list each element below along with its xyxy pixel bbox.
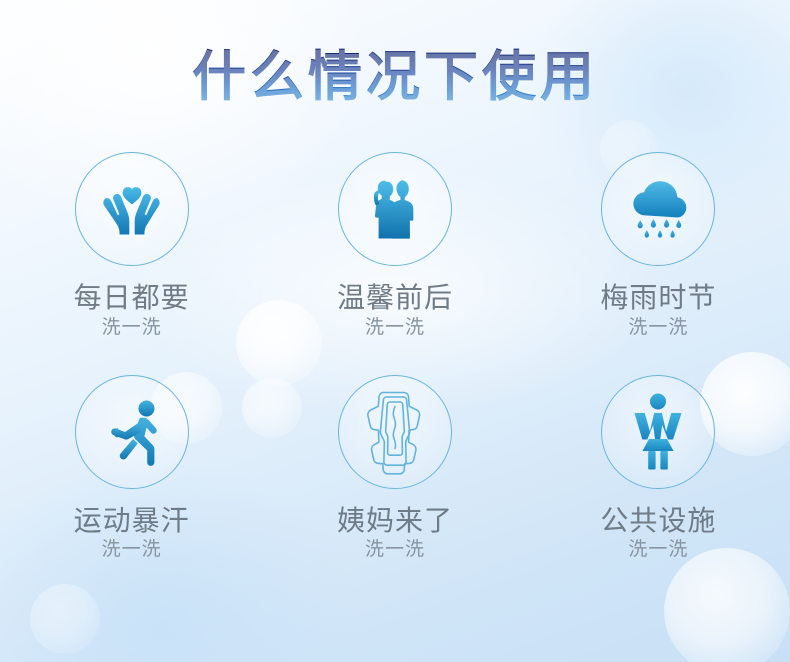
scenario-sublabel: 洗一洗 [365,318,425,339]
couple-icon [358,172,432,246]
rain-cloud-icon [620,172,696,246]
icon-circle [338,375,452,489]
scenario-sublabel: 洗一洗 [628,540,688,561]
scenario-label: 梅雨时节 [600,283,716,314]
scenario-label: 每日都要 [74,283,190,314]
running-person-sweat-icon [94,395,170,469]
scenario-item-intimacy[interactable]: 温馨前后 洗一洗 [292,152,497,339]
scenario-sublabel: 洗一洗 [365,540,425,561]
promo-banner: 什么情况下使用 [0,0,790,662]
scenario-label: 温馨前后 [337,283,453,314]
icon-circle [338,152,452,266]
hands-holding-heart-icon [95,172,169,246]
scenario-sublabel: 洗一洗 [102,318,162,339]
scenario-item-period[interactable]: 姨妈来了 洗一洗 [292,375,497,562]
scenario-label: 公共设施 [600,506,716,537]
female-restroom-icon [625,392,691,472]
scenario-item-exercise-sweat[interactable]: 运动暴汗 洗一洗 [29,375,234,562]
scenario-item-public-facility[interactable]: 公共设施 洗一洗 [556,375,761,562]
scenario-label: 运动暴汗 [74,506,190,537]
title-container: 什么情况下使用 [0,46,790,106]
bokeh-circle [30,584,100,654]
scenario-item-rainy-season[interactable]: 梅雨时节 洗一洗 [556,152,761,339]
scenario-sublabel: 洗一洗 [628,318,688,339]
scenario-sublabel: 洗一洗 [102,540,162,561]
scenario-item-daily[interactable]: 每日都要 洗一洗 [29,152,234,339]
icon-circle [75,375,189,489]
scenario-grid: 每日都要 洗一洗 [0,152,790,561]
bokeh-circle [664,548,790,662]
scenario-label: 姨妈来了 [337,506,453,537]
sanitary-pad-icon [364,389,426,475]
icon-circle [601,375,715,489]
icon-circle [75,152,189,266]
icon-circle [601,152,715,266]
page-title: 什么情况下使用 [192,46,598,106]
